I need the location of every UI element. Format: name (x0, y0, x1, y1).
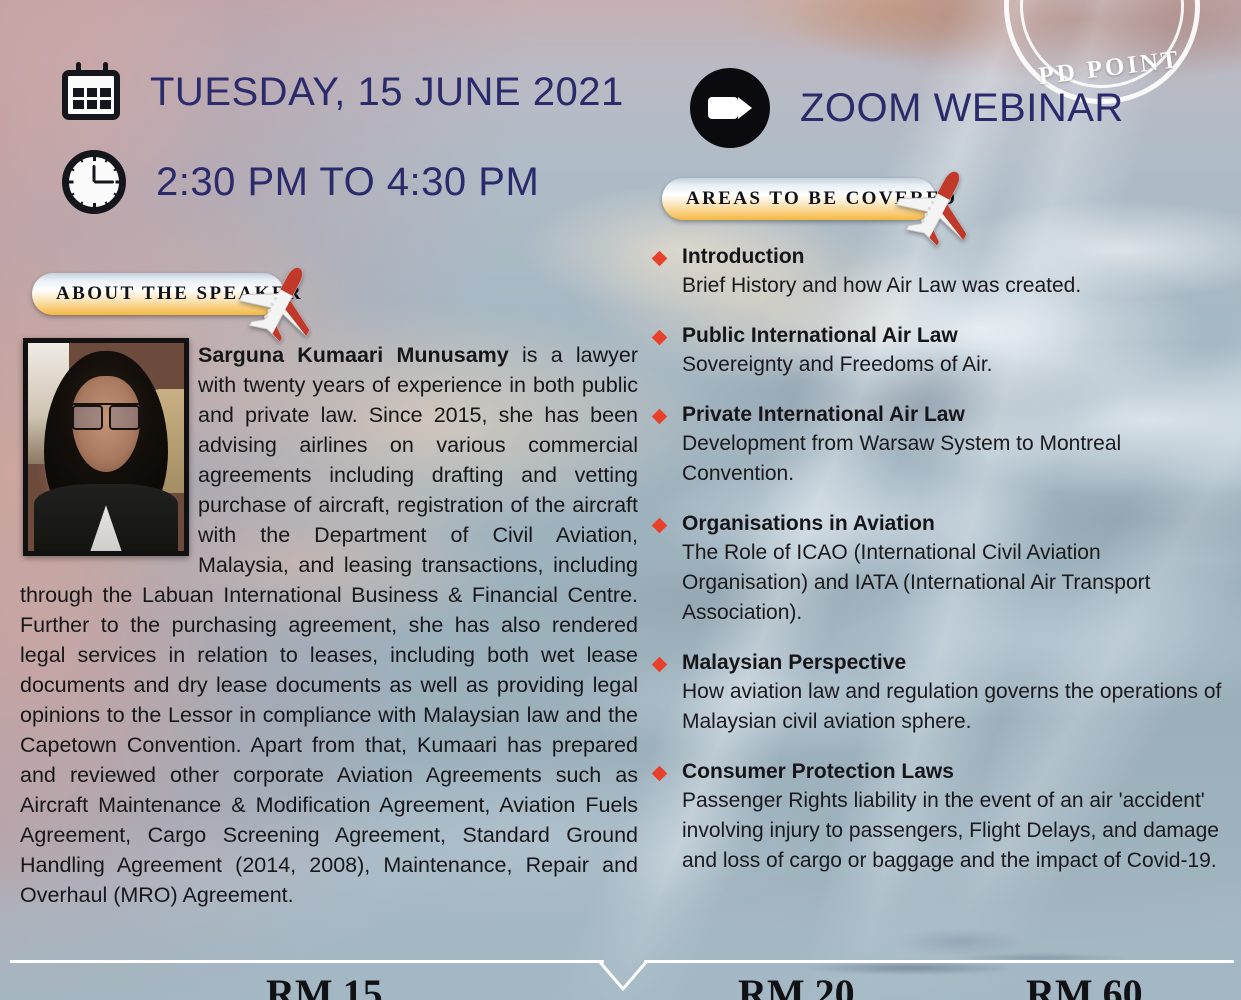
topic-item: Malaysian Perspective How aviation law a… (652, 650, 1230, 737)
event-date-row: TUESDAY, 15 JUNE 2021 (62, 62, 624, 122)
clock-icon (62, 150, 126, 214)
about-the-speaker-label: ABOUT THE SPEAKER (32, 283, 303, 305)
event-platform-text: ZOOM WEBINAR (800, 86, 1124, 131)
event-time-row: 2:30 PM TO 4:30 PM (62, 150, 539, 214)
event-platform-row: ZOOM WEBINAR (690, 68, 1124, 148)
diamond-bullet-icon (652, 657, 668, 673)
diamond-bullet-icon (652, 518, 668, 534)
price-value: RM 60 (1026, 970, 1143, 1000)
divider-notch (598, 960, 648, 990)
topic-title: Public International Air Law (682, 323, 1230, 349)
topic-description: How aviation law and regulation governs … (682, 677, 1230, 737)
diamond-bullet-icon (652, 409, 668, 425)
areas-to-be-covered-badge: AREAS TO BE COVERED (662, 178, 936, 220)
event-date-text: TUESDAY, 15 JUNE 2021 (150, 70, 624, 115)
diamond-bullet-icon (652, 766, 668, 782)
topic-item: Public International Air Law Sovereignty… (652, 323, 1230, 380)
price-strip: RM 15 RM 20 RM 60 (0, 948, 1241, 1000)
topics-list: Introduction Brief History and how Air L… (652, 244, 1230, 898)
calendar-icon (62, 62, 124, 122)
price-value: RM 15 (266, 970, 383, 1000)
divider-line-left (10, 960, 604, 963)
about-the-speaker-badge: ABOUT THE SPEAKER (32, 273, 284, 315)
diamond-bullet-icon (652, 251, 668, 267)
speaker-name: Sarguna Kumaari Munusamy (198, 343, 509, 367)
topic-description: Development from Warsaw System to Montre… (682, 429, 1230, 489)
divider-line-right (644, 960, 1234, 963)
topic-item: Private International Air Law Developmen… (652, 402, 1230, 489)
topic-item: Organisations in Aviation The Role of IC… (652, 511, 1230, 628)
topic-title: Malaysian Perspective (682, 650, 1230, 676)
areas-to-be-covered-label: AREAS TO BE COVERED (662, 188, 957, 210)
topic-item: Consumer Protection Laws Passenger Right… (652, 759, 1230, 876)
speaker-bio: Sarguna Kumaari Munusamy is a lawyer wit… (20, 340, 638, 910)
topic-title: Introduction (682, 244, 1230, 270)
topic-title: Private International Air Law (682, 402, 1230, 428)
diamond-bullet-icon (652, 330, 668, 346)
topic-item: Introduction Brief History and how Air L… (652, 244, 1230, 301)
event-time-text: 2:30 PM TO 4:30 PM (156, 160, 539, 205)
video-camera-icon (690, 68, 770, 148)
topic-description: Brief History and how Air Law was create… (682, 271, 1230, 301)
topic-description: Passenger Rights liability in the event … (682, 786, 1230, 876)
price-value: RM 20 (738, 970, 855, 1000)
topic-title: Organisations in Aviation (682, 511, 1230, 537)
topic-description: The Role of ICAO (International Civil Av… (682, 538, 1230, 628)
topic-description: Sovereignty and Freedoms of Air. (682, 350, 1230, 380)
topic-title: Consumer Protection Laws (682, 759, 1230, 785)
